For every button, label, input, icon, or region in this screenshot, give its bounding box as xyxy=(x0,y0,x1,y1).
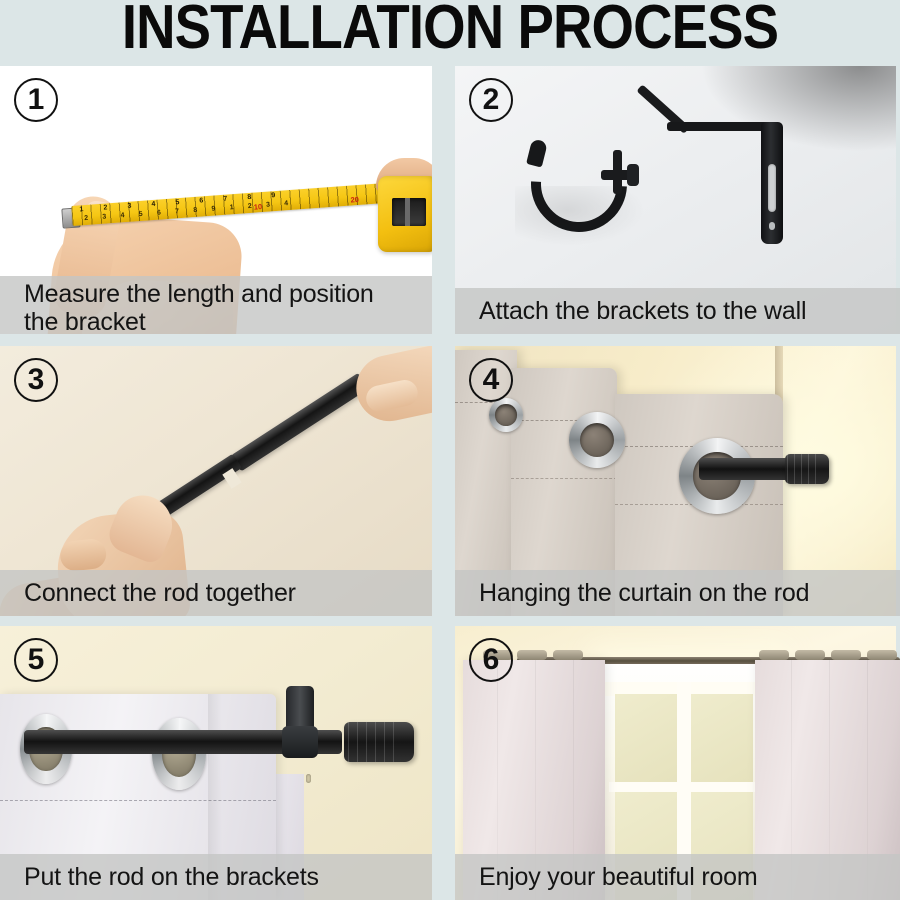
tape-case-window xyxy=(392,198,426,226)
scene-hanging-curtain: 4 Hanging the curtain on the rod xyxy=(455,346,900,616)
bracket-screw-knob xyxy=(627,164,639,186)
grommet-tab xyxy=(553,650,583,660)
step-caption-1-text: Measure the length and positionthe brack… xyxy=(24,280,374,334)
grommet-tab xyxy=(759,650,789,660)
upper-hand-fingers xyxy=(364,378,420,414)
step-badge-2: 2 xyxy=(469,78,513,122)
grommet-ring-2 xyxy=(569,412,625,468)
wall-plate-hole xyxy=(769,222,775,230)
step-card-5[interactable]: 5 Put the rod on the brackets xyxy=(0,626,432,900)
step-badge-6: 6 xyxy=(469,638,513,682)
bracket-saddle xyxy=(282,726,318,758)
scene-rod-on-brackets: 5 Put the rod on the brackets xyxy=(0,626,432,900)
window-mullion-horizontal xyxy=(609,782,771,792)
tape-blade: 1 2 3 4 5 6 7 8 9 2 3 4 5 6 7 8 9 1 2 3 … xyxy=(71,183,390,226)
bracket-wall-plate xyxy=(761,122,783,244)
grommet-tab xyxy=(867,650,897,660)
bracket-soft-shadow xyxy=(515,186,645,246)
lower-hand-fingers xyxy=(59,538,108,573)
curtain-hem-stitch-2 xyxy=(511,478,617,480)
grommet-tab xyxy=(517,650,547,660)
wall-plate-slot xyxy=(768,164,776,212)
step-badge-5: 5 xyxy=(14,638,58,682)
scene-finished-room: 6 Enjoy your beautiful room xyxy=(455,626,900,900)
window-pane-top-right xyxy=(691,694,753,782)
steps-grid: 1 2 3 4 5 6 7 8 9 2 3 4 5 6 7 8 9 1 2 3 … xyxy=(0,66,900,900)
tape-red-mark-10: 10 xyxy=(254,202,263,212)
step-card-6[interactable]: 6 Enjoy your beautiful room xyxy=(455,626,900,900)
scene-bracket-on-wall: 2 Attach the brackets to the wall xyxy=(455,66,900,334)
finial-ribs xyxy=(787,454,819,484)
header-bar: INSTALLATION PROCESS xyxy=(0,0,900,62)
screw-hole xyxy=(306,774,311,783)
window-pane-top-left xyxy=(615,694,677,782)
step-caption-6-text: Enjoy your beautiful room xyxy=(479,863,757,891)
rod-finial xyxy=(344,722,414,762)
step-badge-3: 3 xyxy=(14,358,58,402)
rod-upper-section xyxy=(231,373,369,472)
step-card-2[interactable]: 2 Attach the brackets to the wall xyxy=(455,66,900,334)
finial-ribs xyxy=(348,722,402,762)
step-caption-4-text: Hanging the curtain on the rod xyxy=(479,579,809,607)
step-caption-1: Measure the length and positionthe brack… xyxy=(0,276,432,334)
rod-joint xyxy=(222,468,241,489)
grommet-tab xyxy=(831,650,861,660)
step-caption-2-text: Attach the brackets to the wall xyxy=(479,297,806,325)
step-card-3[interactable]: 3 Connect the rod together xyxy=(0,346,432,616)
installation-process-infographic: INSTALLATION PROCESS 1 2 3 4 5 6 7 8 9 2… xyxy=(0,0,900,900)
scene-connect-rod: 3 Connect the rod together xyxy=(0,346,432,616)
step-card-4[interactable]: 4 Hanging the curtain on the rod xyxy=(455,346,900,616)
grommet-tab xyxy=(795,650,825,660)
scene-measuring-tape-in-hand: 1 2 3 4 5 6 7 8 9 2 3 4 5 6 7 8 9 1 2 3 … xyxy=(0,66,432,334)
step-caption-6: Enjoy your beautiful room xyxy=(455,854,900,900)
rod-finial xyxy=(785,454,829,484)
step-caption-5: Put the rod on the brackets xyxy=(0,854,432,900)
tape-measure-case xyxy=(378,176,432,252)
step-badge-1: 1 xyxy=(14,78,58,122)
step-caption-2: Attach the brackets to the wall xyxy=(455,288,900,334)
step-card-1[interactable]: 1 2 3 4 5 6 7 8 9 2 3 4 5 6 7 8 9 1 2 3 … xyxy=(0,66,432,334)
grommet-ring-2 xyxy=(152,718,206,790)
page-title: INSTALLATION PROCESS xyxy=(54,0,846,60)
step-badge-4: 4 xyxy=(469,358,513,402)
grommet-ring-1 xyxy=(489,398,523,432)
upper-hand xyxy=(350,346,432,427)
step-caption-5-text: Put the rod on the brackets xyxy=(24,863,319,891)
step-caption-3-text: Connect the rod together xyxy=(24,579,296,607)
curtain-hem-stitch xyxy=(0,800,276,801)
step-caption-4: Hanging the curtain on the rod xyxy=(455,570,900,616)
tape-red-mark-20: 20 xyxy=(350,195,359,205)
step-caption-3: Connect the rod together xyxy=(0,570,432,616)
wall-shadow xyxy=(700,66,900,152)
